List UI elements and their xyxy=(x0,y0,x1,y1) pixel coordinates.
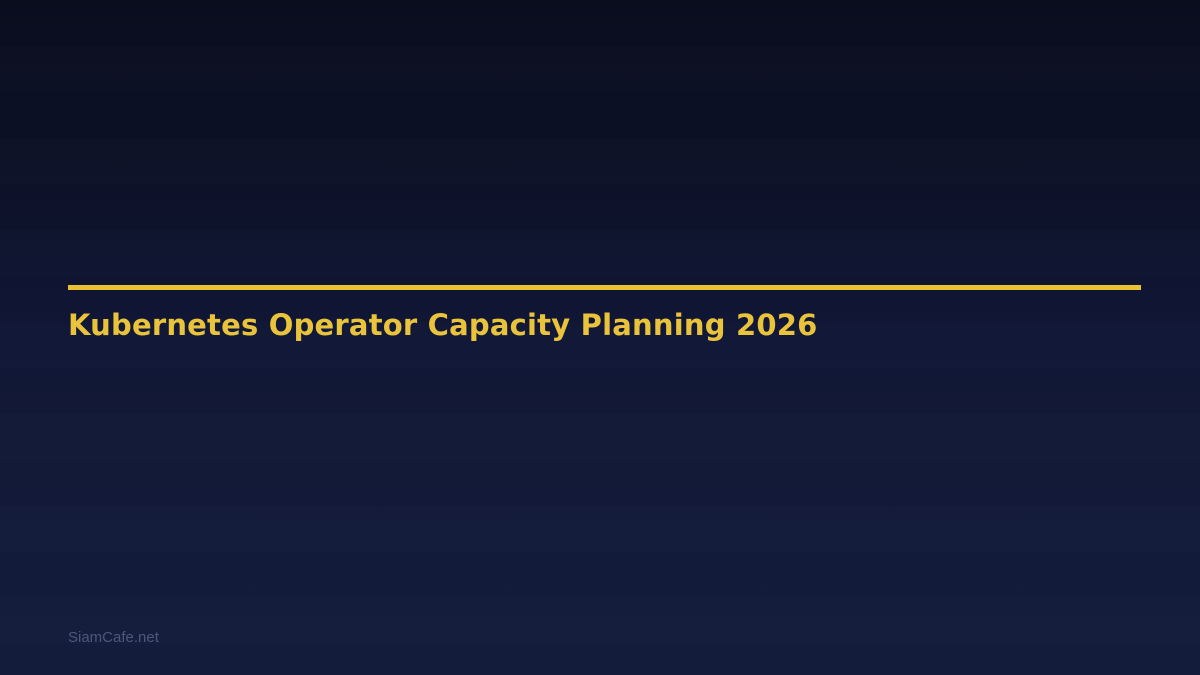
title-block: Kubernetes Operator Capacity Planning 20… xyxy=(68,285,1141,290)
title-slide: Kubernetes Operator Capacity Planning 20… xyxy=(0,0,1200,675)
page-title: Kubernetes Operator Capacity Planning 20… xyxy=(68,311,817,340)
accent-rule xyxy=(68,285,1141,290)
footer-brand: SiamCafe.net xyxy=(68,629,159,647)
